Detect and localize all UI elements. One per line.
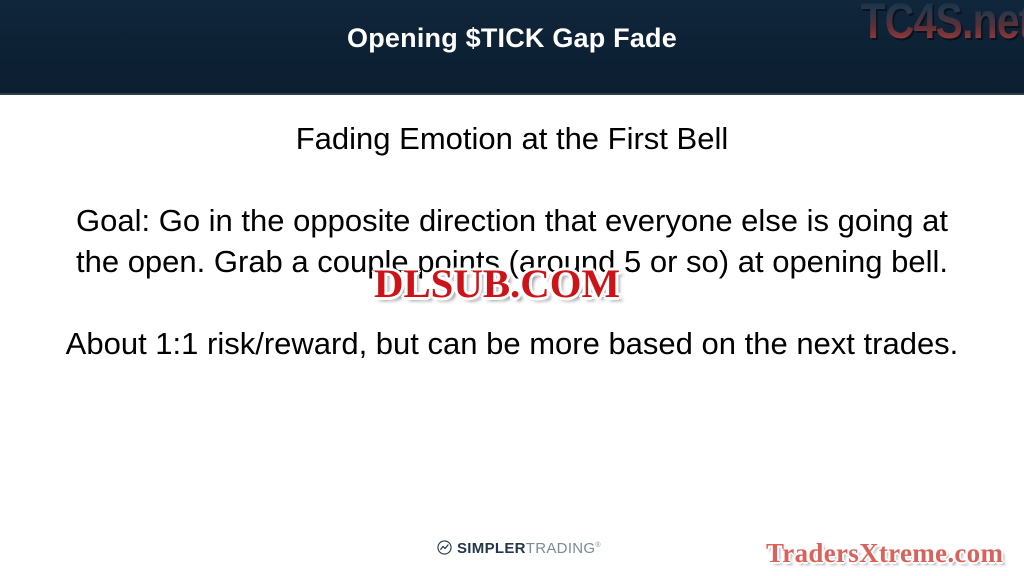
slide-body: Fading Emotion at the First Bell Goal: G… bbox=[62, 118, 962, 364]
tc4s-watermark: TC4S.net bbox=[861, 0, 1024, 46]
header-band: Opening $TICK Gap Fade TC4S.net TC4S.net bbox=[0, 0, 1024, 95]
slide: Opening $TICK Gap Fade TC4S.net TC4S.net… bbox=[0, 0, 1024, 576]
body-paragraph-2: About 1:1 risk/reward, but can be more b… bbox=[62, 323, 962, 364]
chart-line-circle-icon bbox=[437, 540, 452, 555]
body-subtitle: Fading Emotion at the First Bell bbox=[62, 118, 962, 159]
brand-name-light: TRADING bbox=[526, 540, 596, 557]
registered-trademark-symbol: ® bbox=[595, 542, 600, 549]
tradersxtreme-watermark: TradersXtreme.com bbox=[766, 538, 1003, 568]
dlsub-watermark: DLSUB.COM bbox=[374, 264, 620, 304]
paragraph-spacer bbox=[62, 159, 962, 200]
simpler-trading-logo: SIMPLERTRADING® bbox=[437, 538, 601, 556]
brand-name-bold: SIMPLER bbox=[457, 540, 526, 557]
simpler-trading-wordmark: SIMPLERTRADING® bbox=[457, 538, 601, 556]
